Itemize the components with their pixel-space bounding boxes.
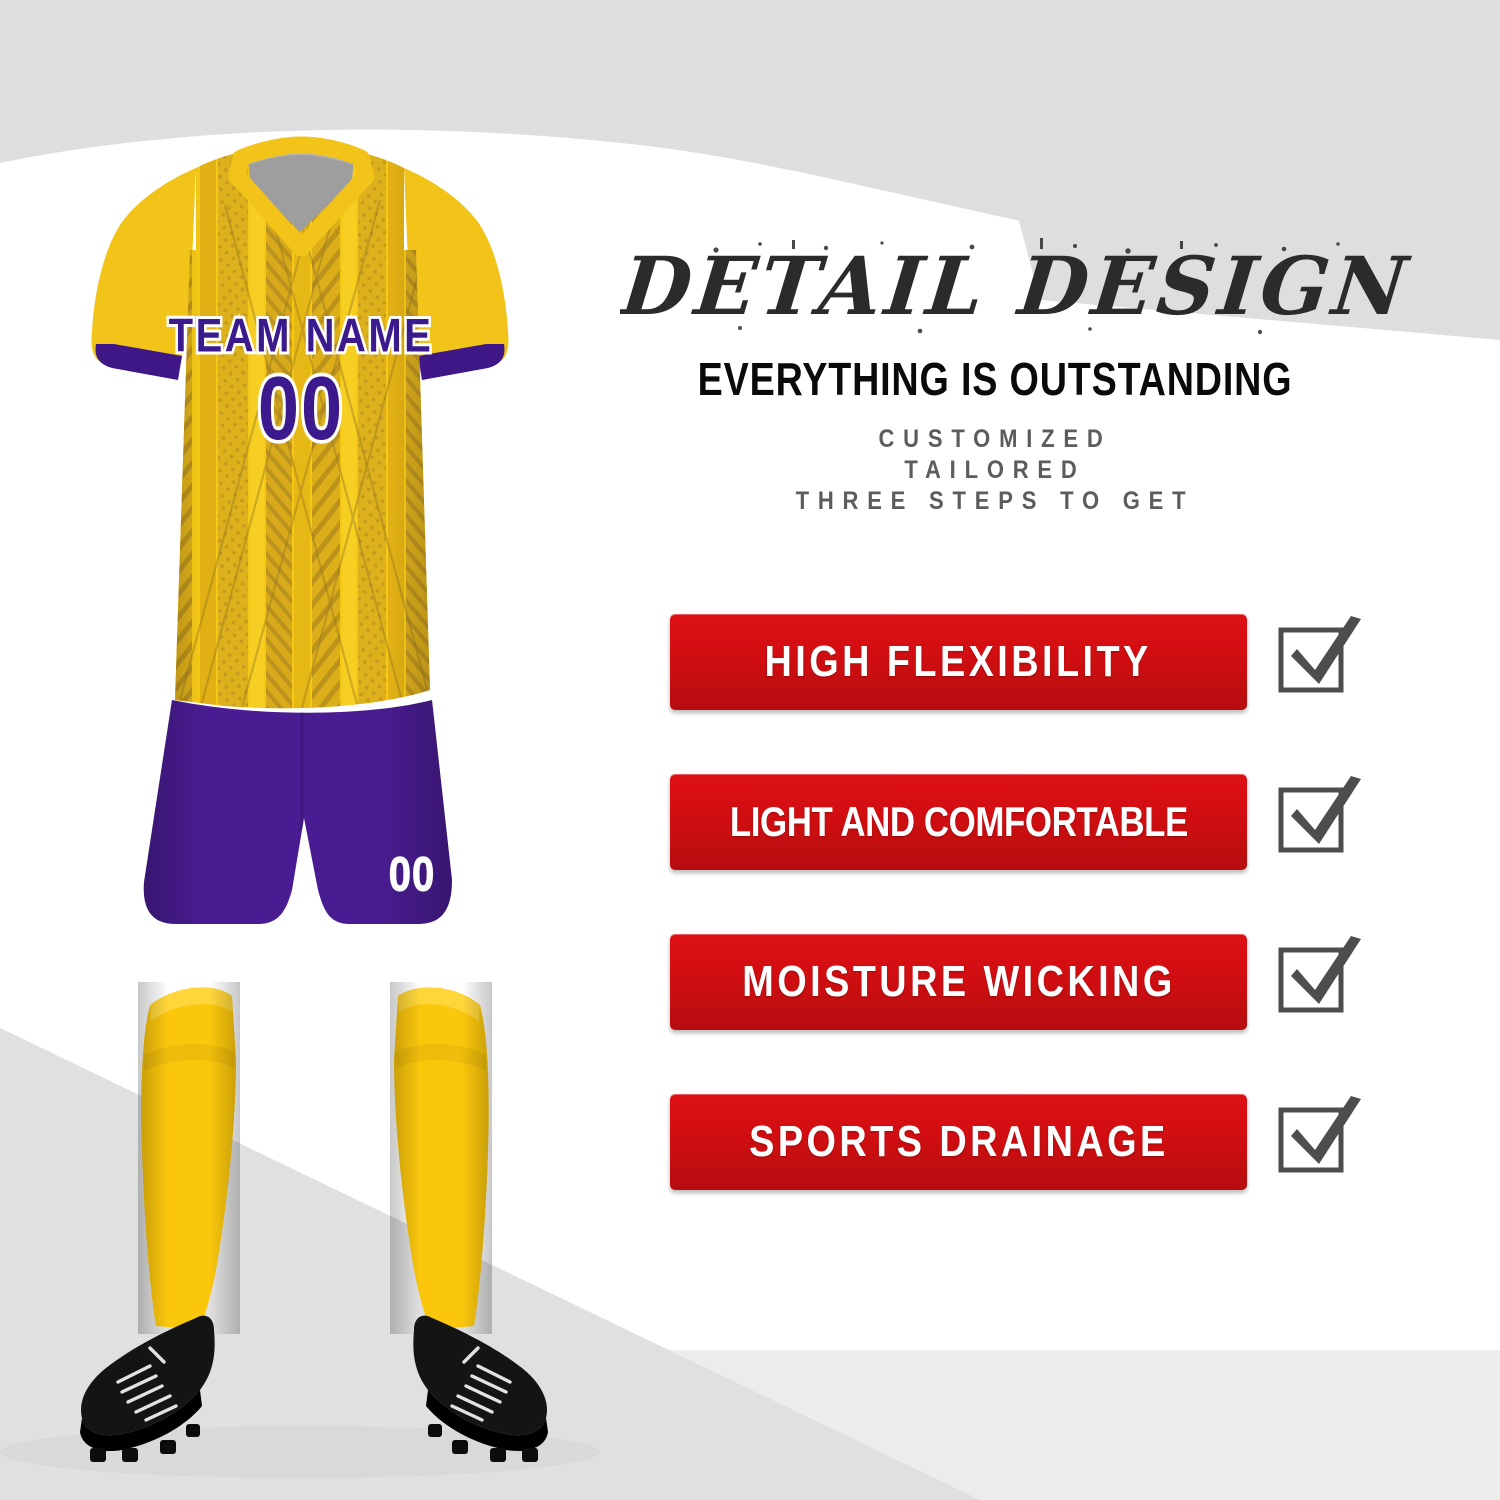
page-subtitle: EVERYTHING IS OUTSTANDING — [626, 352, 1364, 406]
tagline-tailored: TAILORED — [599, 455, 1391, 486]
jersey-graphic: TEAM NAME 00 — [92, 140, 509, 720]
shorts-graphic: 00 — [130, 690, 470, 940]
product-uniform-illustration: TEAM NAME 00 00 — [0, 0, 640, 1500]
checkbox-checked-icon[interactable] — [1273, 1088, 1369, 1184]
feature-banner-label: HIGH FLEXIBILITY — [765, 637, 1152, 687]
feature-banner-label: SPORTS DRAINAGE — [749, 1117, 1169, 1167]
checkbox-checked-icon[interactable] — [1273, 768, 1369, 864]
tagline-customized: CUSTOMIZED — [599, 424, 1391, 455]
feature-banner-moisture-wicking[interactable]: MOISTURE WICKING — [670, 934, 1247, 1030]
feature-list: HIGH FLEXIBILITY LIGHT AND COMFORTABLE — [545, 600, 1500, 1240]
marketing-copy-column: DETAIL DESIGN EVERYTHING IS OUTSTANDING — [545, 0, 1500, 1500]
shorts-number: 00 — [389, 848, 435, 901]
jersey-team-name: TEAM NAME — [169, 310, 434, 363]
feature-banner-label: MOISTURE WICKING — [742, 957, 1175, 1007]
checkbox-checked-icon[interactable] — [1273, 608, 1369, 704]
jersey-number: 00 — [258, 358, 344, 459]
page-title-text: DETAIL DESIGN — [620, 239, 1415, 333]
feature-banner-sports-drainage[interactable]: SPORTS DRAINAGE — [670, 1094, 1247, 1190]
tagline-three-steps: THREE STEPS TO GET — [599, 486, 1391, 517]
feature-row: MOISTURE WICKING — [545, 920, 1500, 1080]
checkbox-checked-icon[interactable] — [1273, 928, 1369, 1024]
feature-banner-high-flexibility[interactable]: HIGH FLEXIBILITY — [670, 614, 1247, 710]
product-marketing-banner: TEAM NAME 00 00 — [0, 0, 1500, 1500]
cleats-graphic — [80, 1316, 548, 1462]
feature-banner-light-and-comfortable[interactable]: LIGHT AND COMFORTABLE — [670, 774, 1247, 870]
tagline-group: CUSTOMIZED TAILORED THREE STEPS TO GET — [545, 424, 1445, 517]
feature-row: HIGH FLEXIBILITY — [545, 600, 1500, 760]
feature-banner-label: LIGHT AND COMFORTABLE — [730, 798, 1188, 846]
page-title: DETAIL DESIGN — [620, 232, 1425, 342]
feature-row: LIGHT AND COMFORTABLE — [545, 760, 1500, 920]
feature-row: SPORTS DRAINAGE — [545, 1080, 1500, 1240]
socks-graphic — [138, 982, 492, 1334]
